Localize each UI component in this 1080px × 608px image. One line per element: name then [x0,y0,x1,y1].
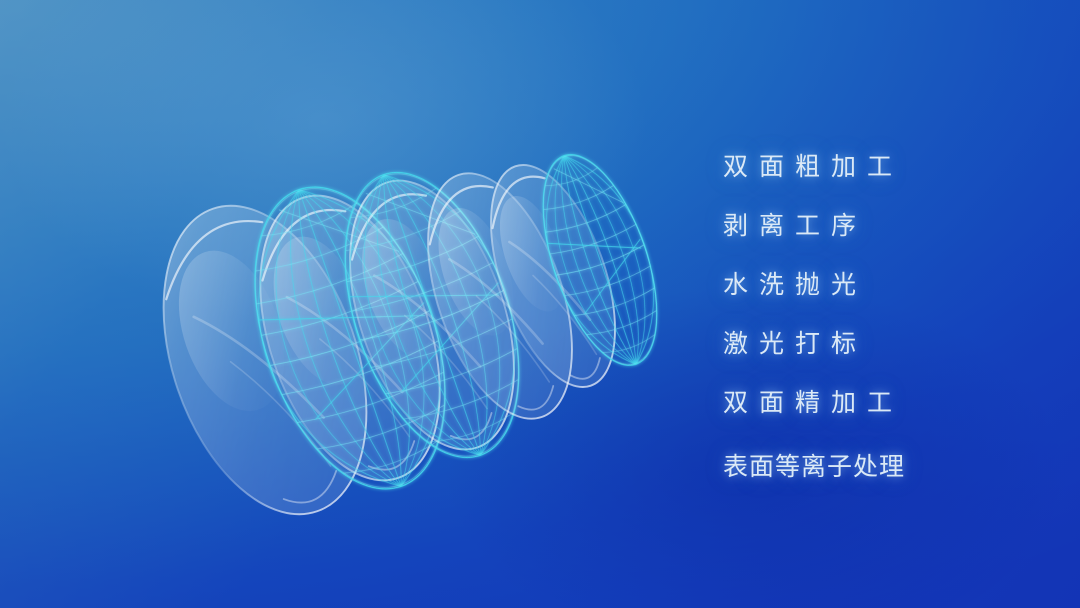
process-step-label-4: 激光打标 [723,324,867,360]
process-step-labels: 双面粗加工剥离工序水洗抛光激光打标双面精加工表面等离子处理 [0,0,1080,608]
process-step-label-2: 剥离工序 [723,206,867,242]
process-step-label-3: 水洗抛光 [723,265,867,301]
process-step-label-6: 表面等离子处理 [723,447,905,483]
process-step-label-1: 双面粗加工 [723,147,903,183]
process-step-label-5: 双面精加工 [723,383,903,419]
slide-canvas: 双面粗加工剥离工序水洗抛光激光打标双面精加工表面等离子处理 [0,0,1080,608]
